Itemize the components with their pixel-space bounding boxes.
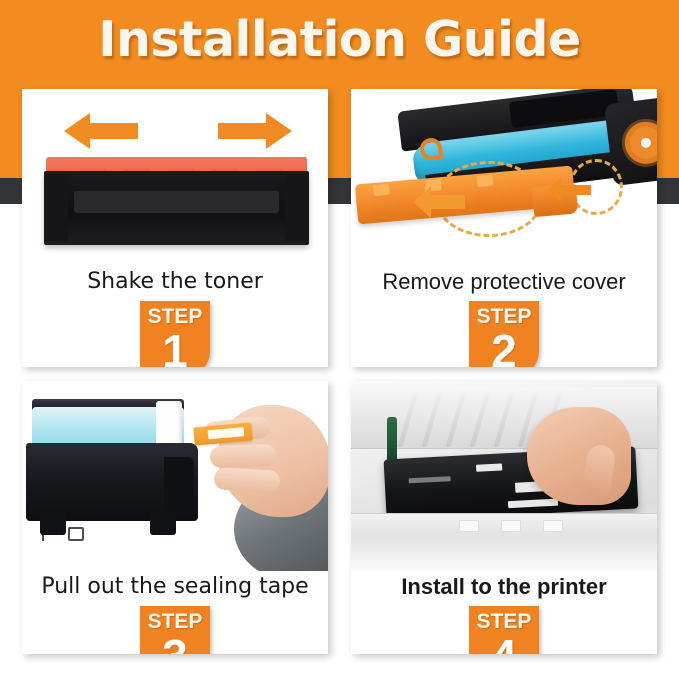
arrow-right-icon [218, 111, 292, 151]
step-3-badge-number: 3 [140, 634, 210, 654]
arrow-left-small-icon [547, 177, 591, 208]
orange-protective-cover-image [355, 166, 577, 243]
step-card-2: Remove protective cover STEP 2 [351, 89, 657, 367]
step-1-caption: Shake the toner [22, 269, 328, 294]
printer-tray [351, 513, 657, 571]
step-4-badge-number: 4 [469, 634, 539, 654]
step-4-caption: Install to the printer [351, 574, 657, 600]
step-card-1: Shake the toner STEP 1 [22, 89, 328, 367]
step-4-illustration [351, 381, 657, 571]
arrow-left-icon [64, 111, 138, 151]
step-2-caption: Remove protective cover [351, 269, 657, 295]
arrow-left-large-icon [413, 185, 465, 224]
printer-green-lever [387, 417, 397, 463]
step-card-3: Pull out the sealing tape STEP 3 [22, 381, 328, 654]
step-3-badge: STEP 3 [140, 606, 210, 654]
step-2-badge: STEP 2 [469, 301, 539, 367]
step-4-badge: STEP 4 [469, 606, 539, 654]
step-1-illustration [22, 89, 328, 264]
step-2-badge-number: 2 [469, 329, 539, 367]
step-3-caption: Pull out the sealing tape [22, 574, 328, 599]
step-1-badge-number: 1 [140, 329, 210, 367]
hand-image [527, 407, 631, 505]
toner-cartridge-image [44, 157, 309, 249]
page-title: Installation Guide [0, 14, 679, 65]
step-card-4: Install to the printer STEP 4 [351, 381, 657, 654]
hand-image [218, 405, 328, 517]
step-1-badge: STEP 1 [140, 301, 210, 367]
step-2-illustration [351, 89, 657, 264]
step-3-illustration [22, 381, 328, 571]
installation-guide-poster: Installation Guide [0, 0, 679, 673]
